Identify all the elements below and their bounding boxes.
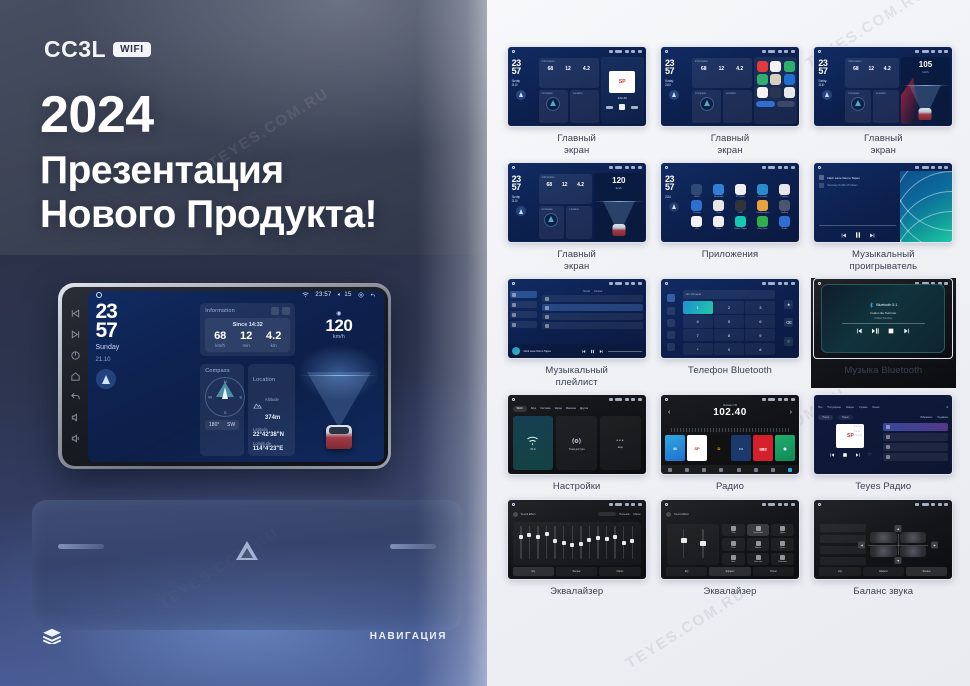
trip-stat: 12 min <box>240 331 252 348</box>
head-unit-screen[interactable]: 23:57 15 <box>88 291 384 462</box>
gallery-item[interactable]: Sound Effect Пользов. Сброс <box>504 499 649 598</box>
eq-header[interactable]: Sound Effect Пользов. Сброс <box>508 508 646 520</box>
bt-progress-bar[interactable] <box>842 323 925 324</box>
headline-year: 2024 <box>40 86 377 144</box>
gallery-caption: Главныйэкран <box>864 133 903 156</box>
teyes-station-list[interactable] <box>883 423 948 461</box>
screenshot-thumb[interactable]: ▴ ▾ ◂ ▸ EQЭффектБаланс <box>813 499 953 580</box>
head-unit-side-buttons[interactable] <box>64 291 88 462</box>
watermark: TEYES.COM.RU <box>623 585 749 673</box>
bluetooth-music-card: Bluetooth 5.1 Feels Like Summer Coldest … <box>821 284 945 353</box>
settings-tab[interactable]: Экран <box>555 407 562 410</box>
search-tab-icon[interactable] <box>667 319 675 327</box>
clock-date: 21.10 <box>96 357 196 365</box>
eq2-tabs[interactable]: EQЭффектСброс <box>666 567 794 576</box>
navigation-label: НАВИГАЦИЯ <box>370 631 447 642</box>
gallery-caption: Приложения <box>702 249 759 261</box>
hazard-light-button[interactable] <box>220 522 274 578</box>
next-station-button[interactable]: › <box>790 409 792 416</box>
bluetooth-title: Bluetooth 5.1 <box>869 302 897 308</box>
gallery-caption: Teyes Радио <box>855 481 911 493</box>
hotspot-icon <box>571 436 582 446</box>
information-title: Information <box>205 308 235 314</box>
presentation-slide: TEYES.COM.RU TEYES.COM.RU CC3L WIFI 2024… <box>0 0 970 686</box>
gallery-caption: Телефон Bluetooth <box>688 365 772 377</box>
screenshot-thumb[interactable]: Sound Effect Рок Классика Джаз Поп Вокал… <box>660 499 800 580</box>
radio-display: Майами FM 102.40 <box>661 404 799 418</box>
car-graphic <box>326 425 352 449</box>
screenshot-thumb[interactable]: Нет Сигнала 123 456 789 *0# ★ ⌫ ✆ <box>660 278 800 359</box>
drive-assist-panel[interactable]: ◉ 120 km/h <box>300 302 377 456</box>
refresh-icon[interactable] <box>271 307 279 315</box>
speaker-rear-left[interactable] <box>870 546 897 557</box>
gallery-item[interactable]: Wi-Fi Звук Система Экран Машина Другие W… <box>504 394 649 493</box>
information-header: Information <box>205 307 290 315</box>
compass-e: E <box>240 394 243 399</box>
gallery-item[interactable]: 2357Sunday21.10 Information68124.2 Compa… <box>811 46 956 156</box>
dashboard-console <box>32 500 462 630</box>
headline-line1: Презентация <box>40 149 377 193</box>
teyes-radio-filters[interactable]: Поиск Радио ИзбранноеНедавние <box>814 413 952 421</box>
gallery-item[interactable]: Майами FM 102.40 ‹ › M SP D ru ggg ◉ <box>657 394 802 493</box>
call-icon[interactable]: ✆ <box>784 337 793 346</box>
screenshot-thumb[interactable]: Майами FM 102.40 ‹ › M SP D ru ggg ◉ <box>660 394 800 475</box>
phone-sidebar[interactable] <box>661 287 682 358</box>
page-title: 2024 Презентация Нового Продукта! <box>40 86 377 237</box>
clock-day: Sunday <box>96 344 196 353</box>
favorite-icon[interactable]: ♡ <box>868 452 872 458</box>
settings-tabs[interactable]: Wi-Fi Звук Система Экран Машина Другие <box>508 403 646 414</box>
player-controls[interactable] <box>819 231 896 239</box>
gallery-item[interactable]: ▴ ▾ ◂ ▸ EQЭффектБаланс Баланс звука <box>811 499 956 598</box>
clock-hours: 23 <box>96 302 196 321</box>
screenshot-thumb[interactable]: ПесниСписки Dark Lane Demo Tapes <box>507 278 647 359</box>
gallery-caption: Главныйэкран <box>711 133 750 156</box>
screenshot-thumb[interactable]: Bluetooth 5.1 Feels Like Summer Coldest … <box>813 278 953 359</box>
music-widget[interactable]: SP 102.40 <box>601 57 644 124</box>
mountain-icon <box>253 402 262 409</box>
wifi-panel[interactable]: Wi-Fi <box>513 416 554 470</box>
balance-left-button[interactable]: ◂ <box>858 541 865 548</box>
next-track-icon[interactable] <box>70 329 81 340</box>
screenshot-thumb[interactable]: Sound Effect Пользов. Сброс <box>507 499 647 580</box>
longitude-value: 114°4'23"E <box>253 446 290 452</box>
settings-tab[interactable]: Система <box>540 407 550 410</box>
compass-card[interactable]: Compass N S W E <box>200 364 244 456</box>
wifi-icon <box>526 436 539 446</box>
gallery-caption: Главныйэкран <box>557 249 596 272</box>
progress-bar[interactable] <box>819 225 896 226</box>
hero-panel: TEYES.COM.RU TEYES.COM.RU CC3L WIFI 2024… <box>0 0 487 686</box>
pause-icon[interactable] <box>854 231 862 239</box>
gallery-caption: Настройки <box>553 481 600 493</box>
eq2-header[interactable]: Sound Effect <box>661 508 799 520</box>
gallery-item[interactable]: 235721.10 Wi-Fi Bluetooth BT Music Calcu… <box>657 162 802 272</box>
now-playing-bar[interactable]: Dark Lane Demo Tapes <box>508 344 646 358</box>
settings-tab[interactable]: Wi-Fi <box>513 406 527 412</box>
eq-dot-icon <box>666 512 671 517</box>
prev-icon[interactable] <box>829 452 835 458</box>
layers-icon <box>42 628 62 644</box>
logo-wifi-badge: WIFI <box>113 42 151 58</box>
head-unit-device: 23:57 15 <box>58 283 391 469</box>
status-time: 23:57 <box>315 292 331 298</box>
gallery-item[interactable]: ВсеПопулярноеЖанрыСтраныЯзыки⚙ Поиск Рад… <box>811 394 956 493</box>
screenshot-thumb[interactable]: 2357Sunday21.10 Information68124.2 Compa… <box>813 46 953 127</box>
prev-icon[interactable] <box>581 349 586 354</box>
altitude-value: 374m <box>265 415 280 421</box>
compass-s: S <box>224 410 227 415</box>
gallery-item[interactable]: Нет Сигнала 123 456 789 *0# ★ ⌫ ✆ <box>657 278 802 388</box>
screenshot-thumb[interactable]: 2357Sunday21.10 Information 68124.2 Comp… <box>507 46 647 127</box>
next-icon[interactable] <box>855 452 861 458</box>
drive-assist-widget[interactable]: 105 km/h <box>901 57 951 124</box>
gallery-item[interactable]: 2357Sunday21.10 Information68124.2 Compa… <box>504 162 649 272</box>
prev-track-icon[interactable] <box>70 308 81 319</box>
settings-tab[interactable]: Звук <box>531 407 536 410</box>
gallery-grid: 2357Sunday21.10 Information 68124.2 Comp… <box>504 46 956 598</box>
screenshot-thumb[interactable]: 2357Sunday21.10 Information68124.2 Compa… <box>507 162 647 243</box>
balance-tabs[interactable]: EQЭффектБаланс <box>819 567 947 576</box>
settings-tab[interactable]: Машина <box>566 407 576 410</box>
phone-number-input[interactable]: Нет Сигнала <box>683 290 776 299</box>
next-icon[interactable] <box>599 349 604 354</box>
compass-n: N <box>224 379 227 384</box>
player-info: Dark Lane Demo Tapes Summary On Mini 70 … <box>814 171 900 242</box>
bt-track-title: Feels Like Summer <box>870 311 896 315</box>
wifi-icon <box>302 292 309 298</box>
app-drawer-grid[interactable]: Wi-Fi Bluetooth BT Music Calculator Came… <box>684 171 799 242</box>
eq-tabs[interactable]: EQБалансСброс <box>513 567 641 576</box>
home-screen-content: 23 57 Sunday 21.10 Information <box>88 299 384 462</box>
location-card[interactable]: Location Altitude 374m <box>248 364 295 456</box>
balance-up-button[interactable]: ▴ <box>895 525 902 532</box>
history-tab-icon[interactable] <box>667 331 675 339</box>
screenshot-thumb[interactable]: ВсеПопулярноеЖанрыСтраныЯзыки⚙ Поиск Рад… <box>813 394 953 475</box>
gear-icon[interactable] <box>358 292 364 298</box>
back-icon[interactable] <box>70 391 81 402</box>
speaker-front-left[interactable] <box>870 532 897 543</box>
contacts-tab-icon[interactable] <box>667 307 675 315</box>
next-icon[interactable] <box>903 327 911 335</box>
home-indicator-icon[interactable] <box>96 292 102 298</box>
backspace-icon[interactable]: ⌫ <box>784 318 793 327</box>
hotspot-panel[interactable]: Точка доступа <box>556 416 597 470</box>
more-panel[interactable]: ••• Ещё <box>600 416 641 470</box>
settings-tab-icon[interactable] <box>667 343 675 351</box>
settings-tab[interactable]: Другие <box>580 407 588 410</box>
location-title: Location <box>253 377 275 383</box>
balance-down-button[interactable]: ▾ <box>895 557 902 564</box>
bluetooth-icon <box>869 302 874 308</box>
speed-value: 120 <box>300 317 377 334</box>
clock-minutes: 57 <box>96 321 196 340</box>
bt-artist: Coldest Sunshine <box>874 318 892 320</box>
teyes-controls[interactable]: ♡ <box>819 452 881 458</box>
eq-dot-icon <box>513 512 518 517</box>
head-unit-body: 23:57 15 <box>62 287 388 466</box>
home-icon[interactable] <box>70 371 81 382</box>
dialpad[interactable]: 123 456 789 *0# <box>683 301 776 355</box>
gallery-item[interactable]: 2357Sunday21.10 Information 68124.2 Comp… <box>504 46 649 156</box>
speed-unit: km/h <box>300 334 377 340</box>
prev-icon[interactable] <box>855 327 863 335</box>
balance-pad[interactable]: ▴ ▾ ◂ ▸ <box>860 526 936 563</box>
dialer[interactable]: Нет Сигнала 123 456 789 *0# <box>682 287 779 358</box>
gallery-item[interactable]: Dark Lane Demo Tapes Summary On Mini 70 … <box>811 162 956 272</box>
speed-value: 105 <box>901 61 951 69</box>
latitude-value: 22°42'38"N <box>253 432 290 438</box>
product-logo: CC3L WIFI <box>44 36 151 63</box>
eq2-faders[interactable] <box>667 524 719 565</box>
radio-toolbar[interactable] <box>661 465 799 474</box>
speed-value: 120 <box>594 177 644 185</box>
altitude-label: Altitude <box>265 397 279 402</box>
eq2-presets[interactable]: Рок Классика Джаз Поп Вокал Данс Бас Хип… <box>722 524 794 565</box>
trip-stat: 68 km/h <box>214 331 226 348</box>
gallery-item[interactable]: 2357Sunday21.10 Information68124.2 Compa… <box>657 46 802 156</box>
balance-right-button[interactable]: ▸ <box>931 541 938 548</box>
clock-column: 23 57 Sunday 21.10 <box>96 302 196 456</box>
information-card[interactable]: Information Since 14:32 68 <box>200 303 295 356</box>
gallery-caption: Музыкальныйплейлист <box>545 365 608 388</box>
teyes-radio-top-tabs[interactable]: ВсеПопулярноеЖанрыСтраныЯзыки⚙ <box>814 403 952 412</box>
stop-icon[interactable] <box>842 452 848 458</box>
navigation-fab[interactable] <box>96 369 116 389</box>
stop-icon[interactable] <box>887 327 895 335</box>
gallery-item[interactable]: Bluetooth 5.1 Feels Like Summer Coldest … <box>811 278 956 388</box>
screenshot-thumb[interactable]: 2357Sunday21.10 Information68124.2 Compa… <box>660 46 800 127</box>
app-shortcuts[interactable] <box>754 57 797 124</box>
settings-panels[interactable]: Wi-Fi Точка доступа ••• Ещё <box>513 416 641 470</box>
volume-up-icon[interactable] <box>70 433 81 444</box>
logo-text: CC3L <box>44 36 106 63</box>
status-bar: 23:57 15 <box>88 291 384 299</box>
back-icon[interactable] <box>370 292 376 298</box>
status-volume: 15 <box>337 292 351 298</box>
visualizer <box>900 171 952 242</box>
next-icon[interactable] <box>869 232 876 239</box>
screenshot-thumb[interactable]: Dark Lane Demo Tapes Summary On Mini 70 … <box>813 162 953 243</box>
screenshot-thumb[interactable]: 235721.10 Wi-Fi Bluetooth BT Music Calcu… <box>660 162 800 243</box>
clock-widget: 23 57 Sunday 21.10 <box>96 302 196 365</box>
prev-station-button[interactable]: ‹ <box>668 409 670 416</box>
radio-presets[interactable]: M SP D ru ggg ◉ <box>665 435 795 461</box>
gallery-caption: Главныйэкран <box>557 133 596 156</box>
dialpad-tab-icon[interactable] <box>667 294 675 302</box>
dialer-actions[interactable]: ★ ⌫ ✆ <box>778 287 799 358</box>
frequency-scale[interactable] <box>671 428 789 432</box>
pause-icon[interactable] <box>590 349 595 354</box>
radio-frequency: 102.40 <box>661 407 799 418</box>
teyes-now-playing: SP РоссияТоп 40Low 100 ♡ <box>819 424 881 458</box>
compass-dial: N S W E <box>205 377 245 417</box>
trip-since: Since 14:32 <box>207 322 288 328</box>
compass-w: W <box>208 394 212 399</box>
gallery-caption: Эквалайзер <box>703 586 756 598</box>
gallery-caption: Музыкальныйпроигрыватель <box>850 249 918 272</box>
prev-icon[interactable] <box>840 232 847 239</box>
equalizer-sliders[interactable] <box>513 522 641 565</box>
gallery-caption: Музыка Bluetooth <box>844 365 922 377</box>
compass-direction: SW <box>227 422 235 428</box>
hazard-triangle-icon <box>236 541 258 560</box>
altitude-row: Altitude 374m <box>253 388 290 424</box>
eq-preset-button[interactable] <box>598 512 616 516</box>
speaker-rear-right[interactable] <box>900 546 927 557</box>
gallery-item[interactable]: Sound Effect Рок Классика Джаз Поп Вокал… <box>657 499 802 598</box>
gallery-item[interactable]: ПесниСписки Dark Lane Demo Tapes <box>504 278 649 388</box>
trip-stat: 4.2 km <box>266 331 281 348</box>
drive-assist-widget[interactable]: 120 km/h <box>594 173 644 240</box>
favorite-icon[interactable]: ★ <box>784 300 793 309</box>
gallery-caption: Баланс звука <box>853 586 913 598</box>
widgets-column: Information Since 14:32 68 <box>200 302 295 456</box>
gallery-caption: Радио <box>716 481 744 493</box>
compass-degrees: 180° <box>209 422 219 428</box>
compass-title: Compass <box>205 368 239 374</box>
trip-stats: Since 14:32 68 km/h 12 min <box>205 318 290 352</box>
expand-icon[interactable] <box>282 307 290 315</box>
speaker-front-right[interactable] <box>900 532 927 543</box>
headline-line2: Нового Продукта! <box>40 193 377 237</box>
bt-controls[interactable] <box>855 327 911 335</box>
gallery-caption: Эквалайзер <box>550 586 603 598</box>
volume-down-icon[interactable] <box>70 412 81 423</box>
screenshot-gallery: TEYES.COM.RU TEYES.COM.RU TEYES.COM.RU 2… <box>487 0 970 686</box>
power-icon[interactable] <box>70 350 81 361</box>
screenshot-thumb[interactable]: Wi-Fi Звук Система Экран Машина Другие W… <box>507 394 647 475</box>
play-pause-icon[interactable] <box>871 327 879 335</box>
